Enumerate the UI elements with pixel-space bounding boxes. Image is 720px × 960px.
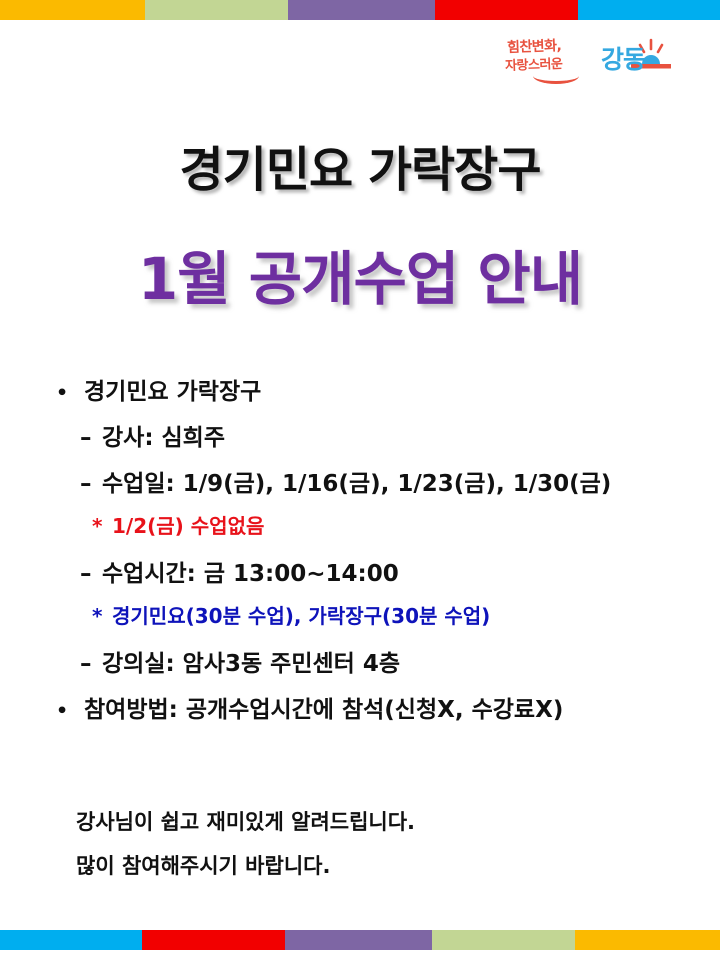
notice-line: –수업시간: 금 13:00~14:00 (0, 554, 720, 600)
notice-line-text: 참여방법: 공개수업시간에 참석(신청X, 수강료X) (84, 690, 563, 724)
notice-line: –수업일: 1/9(금), 1/16(금), 1/23(금), 1/30(금) (0, 464, 720, 510)
list-marker-icon: – (80, 425, 102, 451)
notice-line-text: 강사: 심희주 (102, 418, 225, 452)
notice-line: *1/2(금) 수업없음 (0, 510, 720, 554)
page-title: 경기민요 가락장구 (0, 130, 720, 200)
notice-line-text: 경기민요 가락장구 (84, 372, 261, 406)
color-bar-segment-sky-blue (578, 0, 720, 20)
list-marker-icon: – (80, 651, 102, 677)
closing-line: 강사님이 쉽고 재미있게 알려드립니다. (0, 800, 720, 844)
closing-remarks: 강사님이 쉽고 재미있게 알려드립니다.많이 참여해주시기 바랍니다. (0, 800, 720, 888)
list-marker-icon: – (80, 561, 102, 587)
notice-line: –강의실: 암사3동 주민센터 4층 (0, 644, 720, 690)
gangdong-district-logo: 힘찬변화, 자랑스러운 강동 (505, 34, 675, 94)
color-bar-segment-red (142, 930, 285, 950)
notice-line-text: 1/2(금) 수업없음 (112, 510, 264, 539)
notice-line-text: 강의실: 암사3동 주민센터 4층 (102, 644, 400, 678)
color-bar-segment-sky-blue (0, 930, 142, 950)
color-bar-segment-light-green (432, 930, 575, 950)
top-color-bar (0, 0, 720, 20)
notice-line-text: 수업시간: 금 13:00~14:00 (102, 554, 399, 588)
bottom-color-bar (0, 930, 720, 950)
list-marker-icon: • (56, 700, 84, 722)
list-marker-icon: • (56, 382, 84, 404)
list-marker-icon: * (92, 604, 112, 628)
color-bar-segment-purple (288, 0, 435, 20)
page-subtitle: 1월 공개수업 안내 (0, 232, 720, 316)
notice-line: •참여방법: 공개수업시간에 참석(신청X, 수강료X) (0, 690, 720, 736)
closing-line: 많이 참여해주시기 바랍니다. (0, 844, 720, 888)
color-bar-segment-light-green (145, 0, 288, 20)
list-marker-icon: – (80, 471, 102, 497)
color-bar-segment-purple (285, 930, 432, 950)
list-marker-icon: * (92, 514, 112, 538)
notice-body: •경기민요 가락장구–강사: 심희주–수업일: 1/9(금), 1/16(금),… (0, 372, 720, 736)
notice-line: •경기민요 가락장구 (0, 372, 720, 418)
notice-line: *경기민요(30분 수업), 가락장구(30분 수업) (0, 600, 720, 644)
poster-canvas: 힘찬변화, 자랑스러운 강동 경기민요 가락장구 1월 공개수업 안내 •경기민… (0, 0, 720, 960)
notice-line-text: 경기민요(30분 수업), 가락장구(30분 수업) (112, 600, 490, 629)
notice-line-text: 수업일: 1/9(금), 1/16(금), 1/23(금), 1/30(금) (102, 464, 611, 498)
notice-line: –강사: 심희주 (0, 418, 720, 464)
logo-smile-curve (533, 68, 579, 84)
color-bar-segment-yellow (0, 0, 145, 20)
logo-wordmark: 강동 (601, 40, 645, 76)
color-bar-segment-yellow (575, 930, 720, 950)
color-bar-segment-red (435, 0, 578, 20)
